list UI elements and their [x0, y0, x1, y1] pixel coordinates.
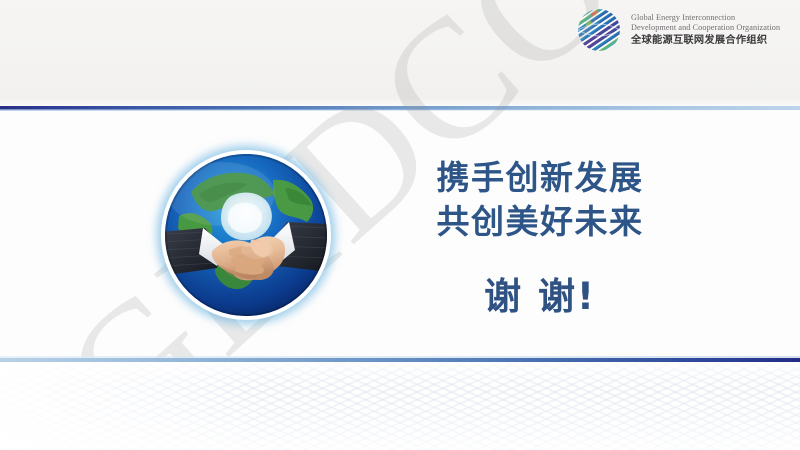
handshake-over-globe-image — [152, 141, 340, 329]
thanks-text: 谢 谢! — [390, 266, 690, 320]
hero-photo — [165, 154, 327, 316]
footer-mesh-top-shine — [0, 362, 800, 388]
organization-name-en-line1: Global Energy Interconnection — [631, 13, 780, 23]
slide-title-block: 携手创新发展 共创美好未来 谢 谢! — [390, 156, 690, 320]
closing-slide: Global Energy Interconnection Developmen… — [0, 0, 800, 450]
organization-name-en-line2: Development and Cooperation Organization — [631, 23, 780, 33]
title-line-2: 共创美好未来 — [390, 200, 690, 244]
geidco-globe-logo-icon — [575, 6, 623, 54]
header-divider-rule — [0, 106, 800, 110]
title-line-1: 携手创新发展 — [390, 156, 690, 200]
organization-logo: Global Energy Interconnection Developmen… — [575, 6, 780, 54]
footer-band — [0, 362, 800, 450]
organization-name-block: Global Energy Interconnection Developmen… — [631, 13, 780, 47]
organization-name-cn: 全球能源互联网发展合作组织 — [631, 35, 780, 47]
